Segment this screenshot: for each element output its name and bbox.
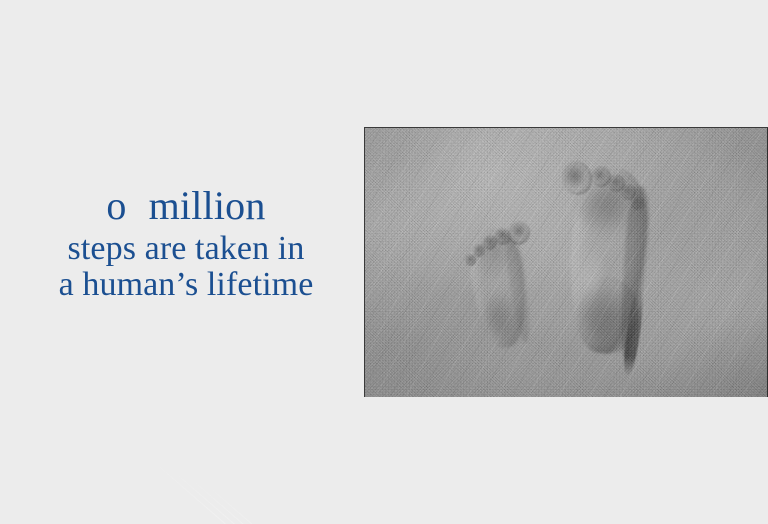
statistic-line-three: a human’s lifetime [8, 268, 364, 302]
footprints-photo [364, 127, 768, 397]
photo-vignette [365, 128, 768, 397]
statistic-text-block: omillion steps are taken in a human’s li… [8, 186, 364, 302]
statistic-line-two: steps are taken in [8, 232, 364, 266]
step-counter-unit: million [149, 183, 266, 228]
step-counter-value: o [106, 183, 126, 228]
compression-ghost-artifacts [0, 440, 420, 524]
statistic-headline: omillion [8, 186, 364, 226]
slide-canvas: omillion steps are taken in a human’s li… [0, 0, 768, 524]
